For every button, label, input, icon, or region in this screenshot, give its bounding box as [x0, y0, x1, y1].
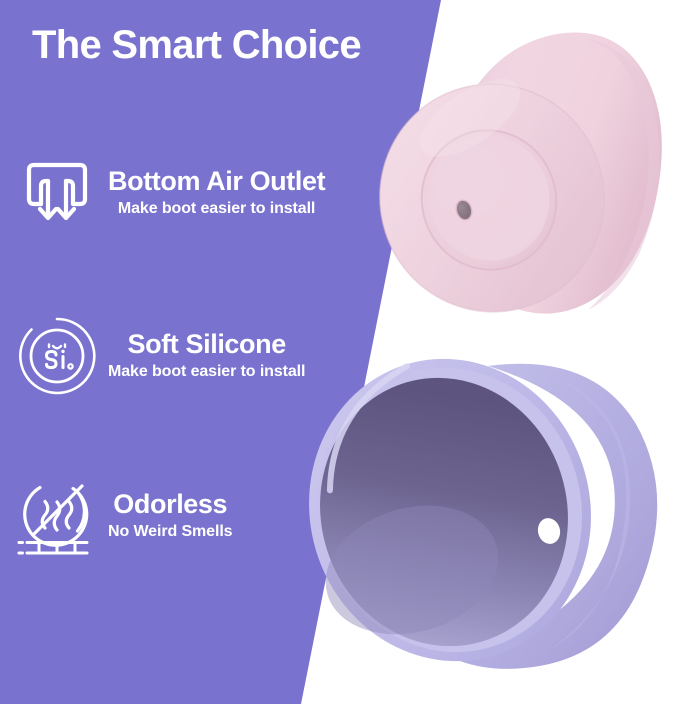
page-title: The Smart Choice: [32, 24, 361, 67]
feature-subtitle: No Weird Smells: [108, 522, 232, 542]
feature-title: Soft Silicone: [128, 330, 286, 360]
feature-soft-silicone: Soft Silicone Make boot easier to instal…: [14, 313, 305, 399]
feature-text-block: Odorless No Weird Smells: [100, 490, 232, 542]
feature-subtitle: Make boot easier to install: [108, 362, 305, 382]
odorless-no-smell-icon: [14, 473, 100, 559]
feature-title: Bottom Air Outlet: [108, 167, 325, 197]
feature-text-block: Soft Silicone Make boot easier to instal…: [100, 330, 305, 382]
purple-chair-leg-cap: [292, 338, 679, 686]
pink-chair-leg-cap: [352, 8, 679, 358]
product-infographic: The Smart Choice Bottom Air Outlet Make …: [0, 0, 679, 704]
feature-bottom-air-outlet: Bottom Air Outlet Make boot easier to in…: [14, 150, 325, 236]
feature-title: Odorless: [113, 490, 227, 520]
soft-silicone-si-icon: [14, 313, 100, 399]
bottom-air-outlet-icon: [14, 150, 100, 236]
feature-odorless: Odorless No Weird Smells: [14, 473, 232, 559]
feature-subtitle: Make boot easier to install: [118, 199, 315, 219]
feature-text-block: Bottom Air Outlet Make boot easier to in…: [100, 167, 325, 219]
